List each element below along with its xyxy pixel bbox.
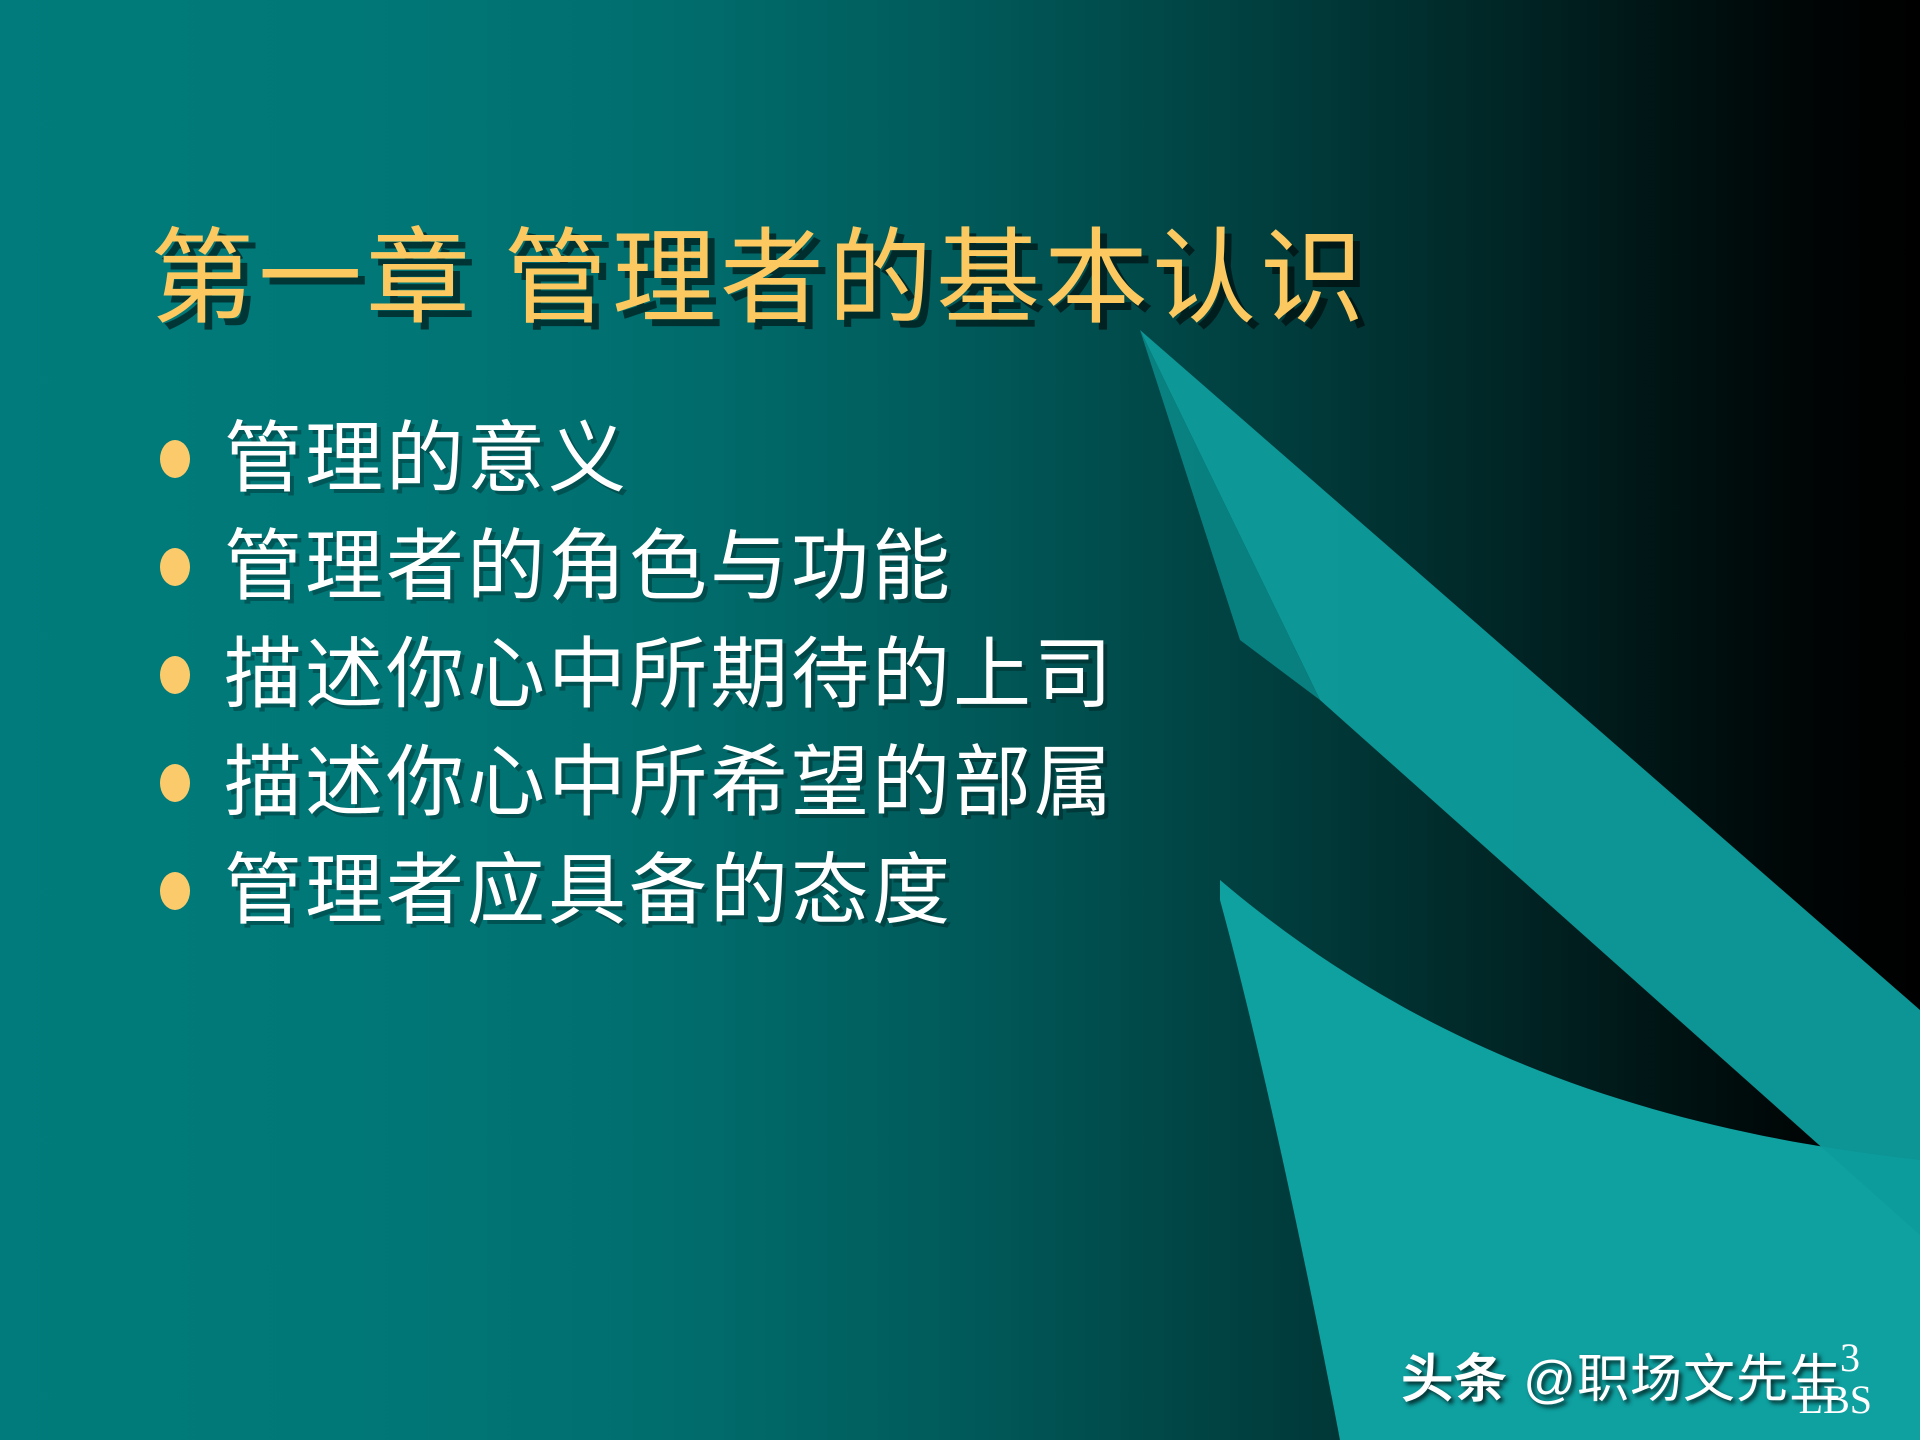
slide-canvas: 第一章 管理者的基本认识 管理的意义 管理者的角色与功能 描述你心中所期待的上司… [0, 0, 1920, 1440]
bullet-list: 管理的意义 管理者的角色与功能 描述你心中所期待的上司 描述你心中所希望的部属 … [160, 405, 1480, 945]
filled-circle-bullet-icon [160, 548, 190, 586]
page-number: 3 [1840, 1338, 1860, 1378]
list-item-label: 描述你心中所希望的部属 [224, 744, 1115, 822]
list-item: 管理的意义 [160, 405, 1480, 513]
list-item-label: 管理者应具备的态度 [224, 852, 953, 930]
watermark-brand-label: 头条 [1401, 1354, 1507, 1406]
list-item: 描述你心中所期待的上司 [160, 621, 1480, 729]
footer-tag-label: LBS [1799, 1380, 1872, 1420]
slide-title: 第一章 管理者的基本认识 [150, 220, 1650, 340]
filled-circle-bullet-icon [160, 656, 190, 694]
filled-circle-bullet-icon [160, 764, 190, 802]
filled-circle-bullet-icon [160, 872, 190, 910]
list-item-label: 管理者的角色与功能 [224, 528, 953, 606]
list-item: 管理者的角色与功能 [160, 513, 1480, 621]
list-item-label: 管理的意义 [224, 420, 629, 498]
filled-circle-bullet-icon [160, 440, 190, 478]
watermark-handle-label: @职场文先生 [1523, 1354, 1842, 1406]
watermark: 头条 @职场文先生 [1401, 1354, 1842, 1406]
list-item-label: 描述你心中所期待的上司 [224, 636, 1115, 714]
list-item: 管理者应具备的态度 [160, 837, 1480, 945]
list-item: 描述你心中所希望的部属 [160, 729, 1480, 837]
